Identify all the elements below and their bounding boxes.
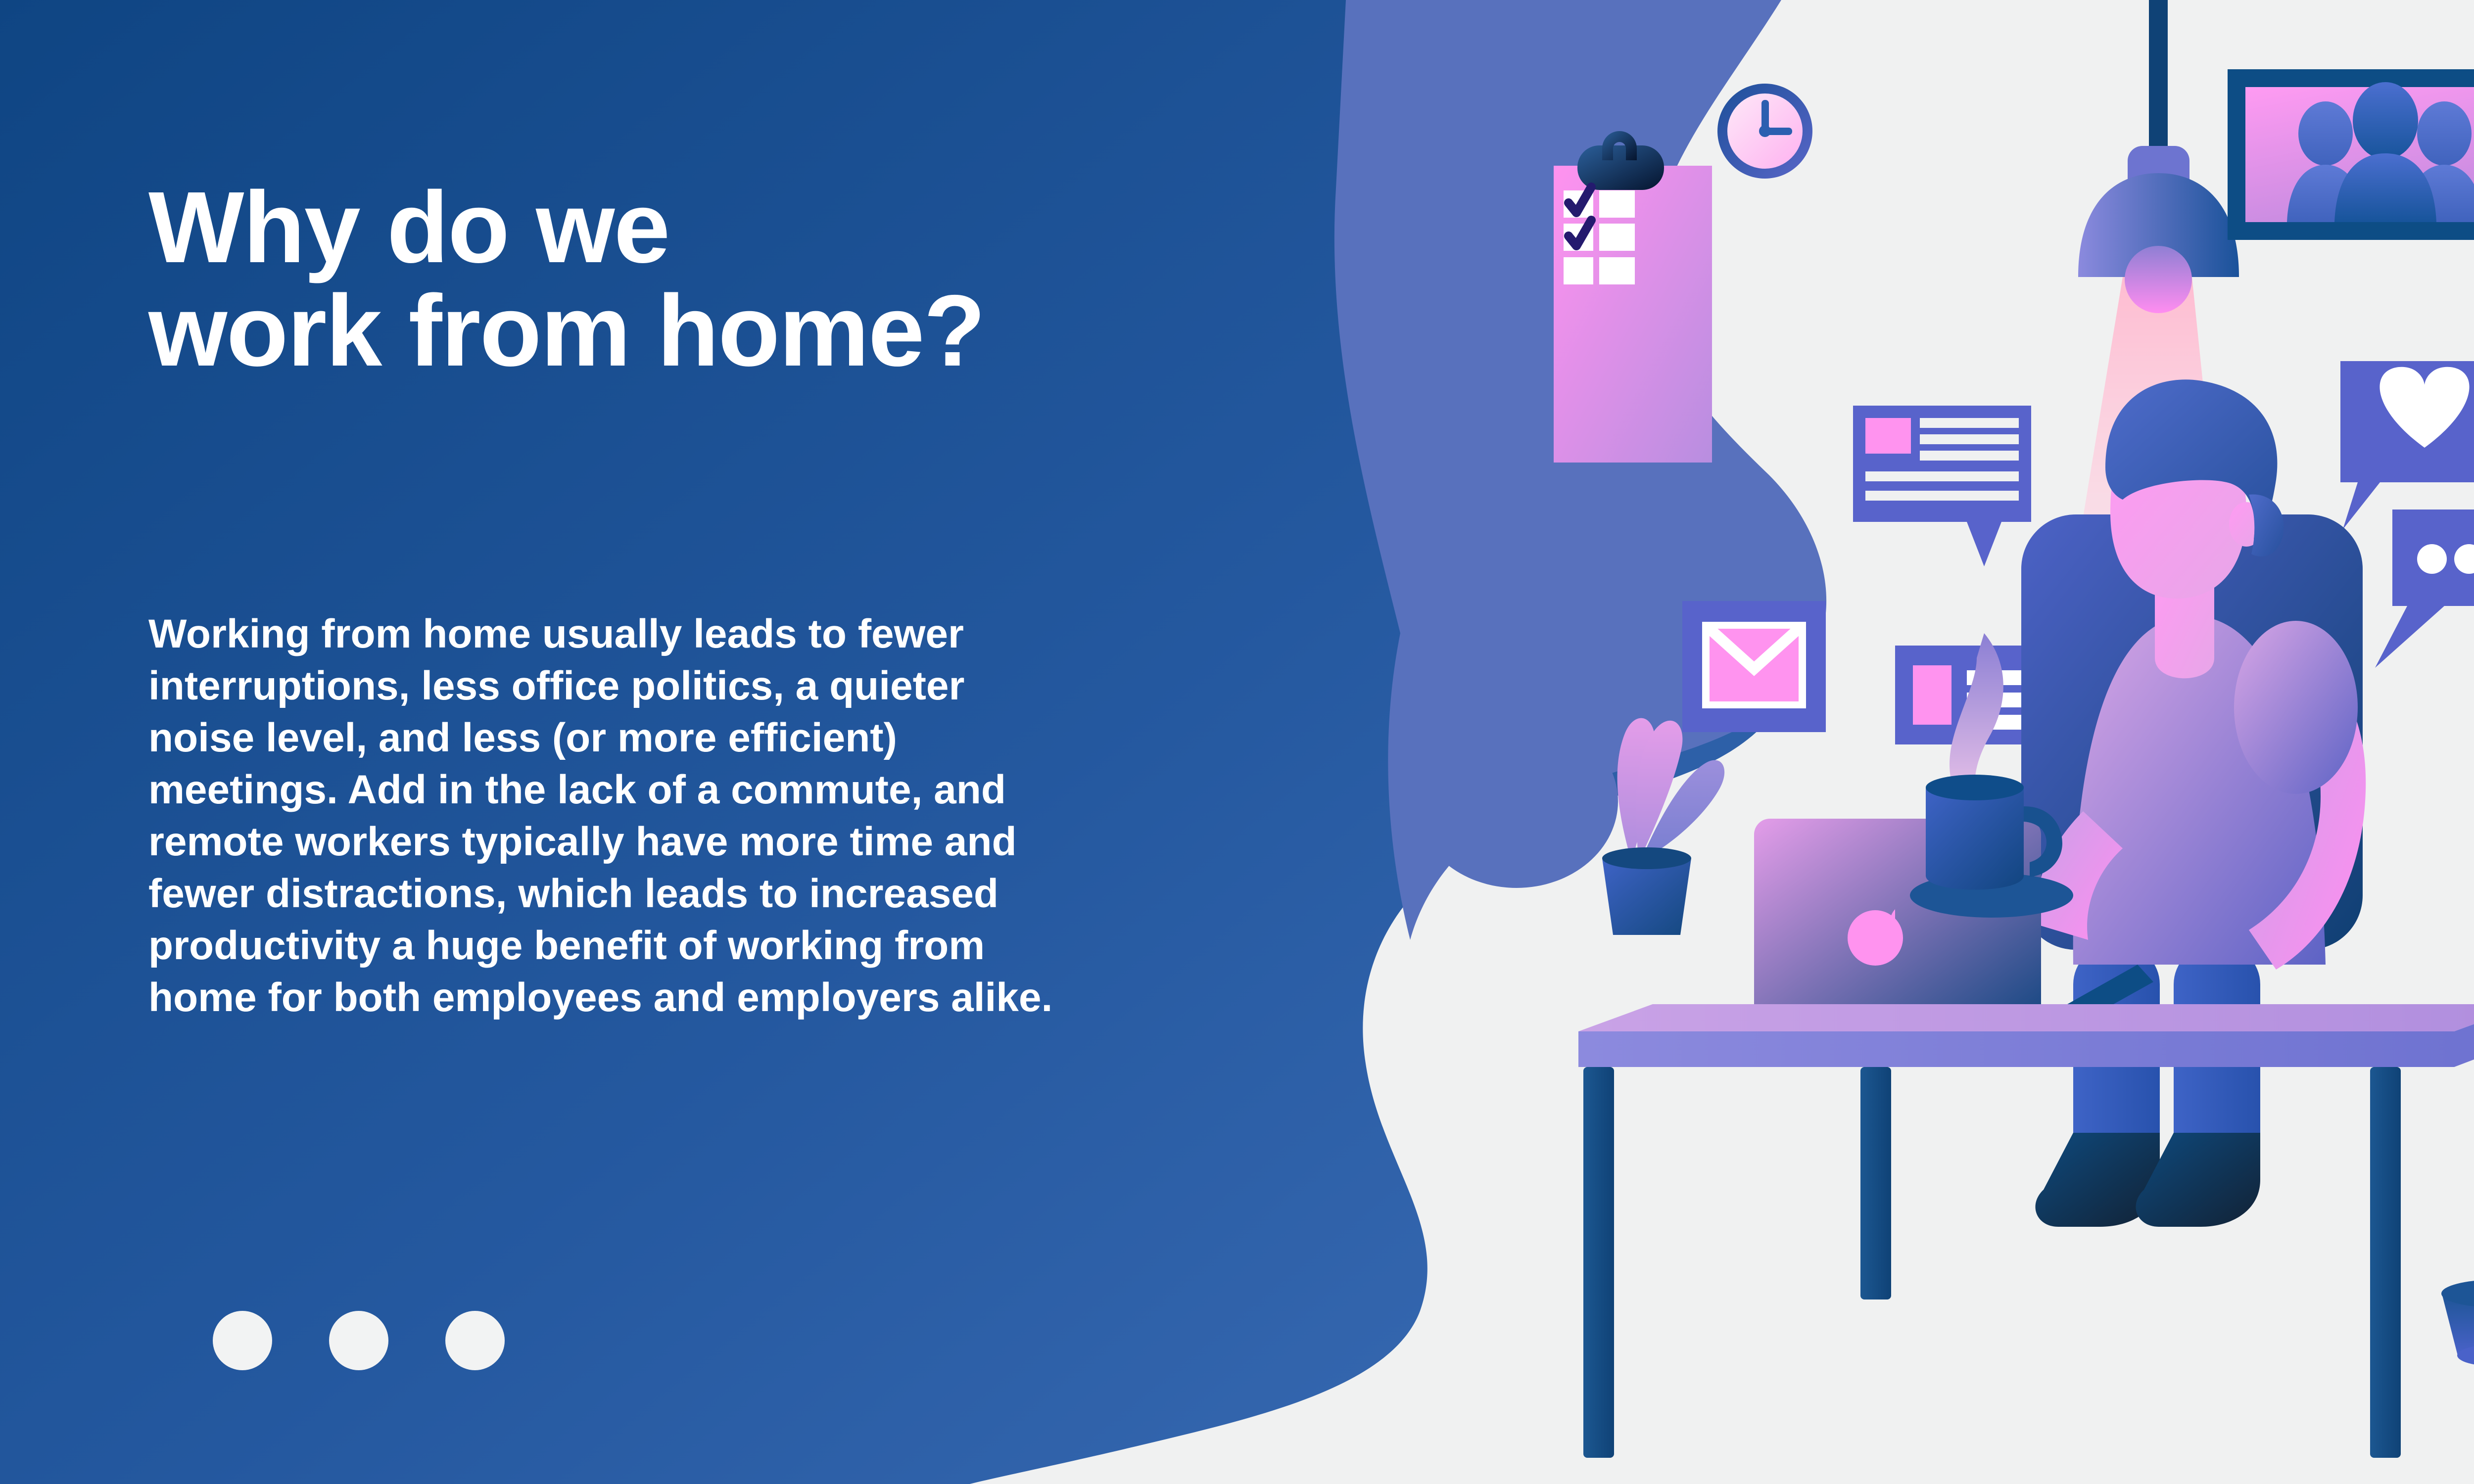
checklist-line-3 — [1599, 257, 1635, 284]
pagination-dot-1[interactable] — [213, 1311, 272, 1370]
clock-center-pin — [1759, 125, 1771, 137]
desk-leg-1 — [1583, 1067, 1614, 1458]
desk-plant-pot-rim — [1602, 847, 1691, 869]
checklist-line-1 — [1599, 190, 1635, 218]
headline-line-1: Why do we — [148, 171, 669, 284]
bubble-line-3 — [1920, 451, 2019, 461]
sleeve-right — [2234, 621, 2358, 794]
pagination-dot-2[interactable] — [329, 1311, 388, 1370]
desk-leg-3 — [2370, 1067, 2401, 1458]
lamp-bulb — [2125, 246, 2192, 313]
bubble-thumbnail — [1865, 418, 1911, 454]
page-title: Why do we work from home? — [148, 176, 1286, 382]
video-call-photo-frame — [2228, 69, 2474, 240]
wall-clock — [1717, 84, 1812, 179]
avatar-head-left — [2298, 101, 2353, 166]
envelope-mail-icon[interactable] — [1682, 601, 1826, 732]
pet-bowl — [2441, 1280, 2474, 1366]
heart-reaction-bubble — [2340, 361, 2474, 529]
mug-rim — [1926, 775, 2024, 800]
lamp-cord — [2149, 0, 2168, 148]
desk-leg-2 — [1860, 1067, 1891, 1299]
bubble-line-5 — [1865, 491, 2019, 501]
mug-body — [1926, 788, 2024, 890]
bubble-line-2 — [1920, 434, 2019, 444]
pagination-dots[interactable] — [213, 1311, 505, 1370]
message-card-thumbnail — [1913, 665, 1951, 725]
checklist-line-2 — [1599, 224, 1635, 251]
typing-dot-1 — [2417, 544, 2447, 574]
headline-line-2: work from home? — [148, 274, 985, 387]
typing-dots-bubble — [2375, 510, 2474, 668]
desk — [1578, 1004, 2474, 1458]
clipboard-checklist — [1554, 131, 1712, 463]
desk-plant-pot — [1602, 858, 1691, 935]
avatar-head-right — [2417, 101, 2472, 166]
desk-surface — [1578, 1004, 2474, 1031]
bubble-line-1 — [1920, 418, 2019, 428]
desk-plant — [1602, 718, 1724, 935]
avatar-head-center — [2353, 82, 2418, 159]
banner-root: Why do we work from home? Working from h… — [0, 0, 2474, 1484]
dots-bubble-body — [2375, 510, 2474, 668]
body-paragraph: Working from home usually leads to fewer… — [148, 608, 1074, 1024]
pagination-dot-3[interactable] — [445, 1311, 505, 1370]
bubble-line-4 — [1865, 471, 2019, 481]
chat-bubble-article — [1853, 406, 2031, 566]
illustration-work-from-home — [1484, 0, 2474, 1484]
checkbox-3[interactable] — [1564, 257, 1593, 284]
text-column: Why do we work from home? Working from h… — [148, 0, 1188, 1484]
desk-edge — [1578, 1031, 2454, 1067]
